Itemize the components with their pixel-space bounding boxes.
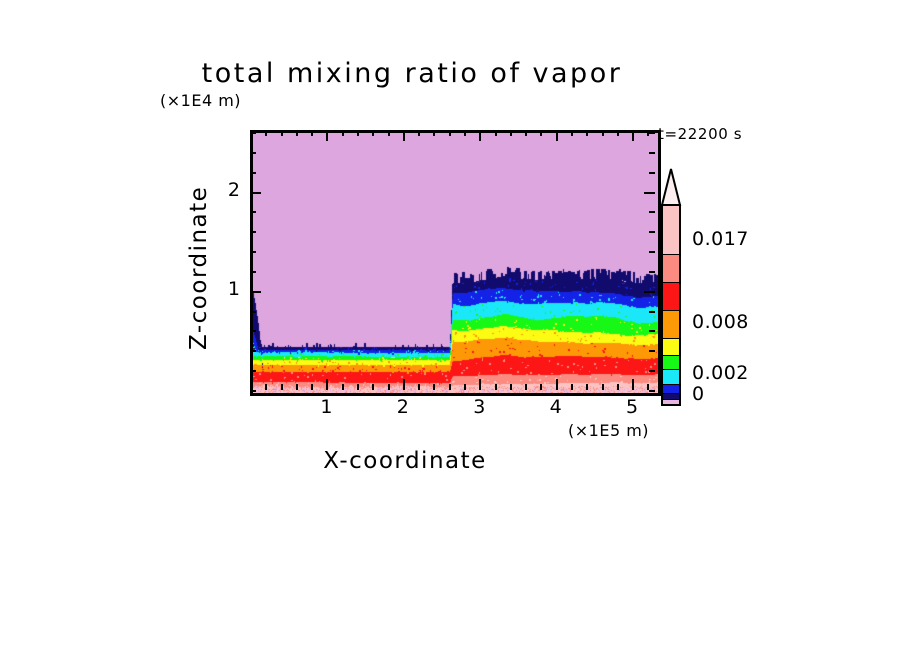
x-minor-tick-top xyxy=(433,130,435,136)
x-minor-tick-top xyxy=(602,130,604,136)
x-minor-tick xyxy=(495,384,497,390)
y-major-tick-right xyxy=(644,192,655,194)
x-major-tick-top xyxy=(403,130,405,141)
y-minor-tick xyxy=(250,152,256,154)
y-minor-tick-right xyxy=(649,251,655,253)
x-minor-tick-top xyxy=(418,130,420,136)
x-major-tick-top xyxy=(632,130,634,141)
x-minor-tick-top xyxy=(357,130,359,136)
colorbar-band-blue xyxy=(663,385,679,394)
colorbar-tick-label: 0.002 xyxy=(692,362,749,384)
x-major-tick xyxy=(632,379,634,390)
y-axis-title: Z-coordinate xyxy=(186,186,212,350)
colorbar-bands xyxy=(661,204,681,406)
x-minor-tick xyxy=(265,384,267,390)
x-minor-tick xyxy=(617,384,619,390)
colorbar-arrow-icon xyxy=(659,168,683,206)
x-minor-tick xyxy=(540,384,542,390)
x-minor-tick-top xyxy=(525,130,527,136)
x-minor-tick xyxy=(372,384,374,390)
y-minor-tick-right xyxy=(649,390,655,392)
x-minor-tick xyxy=(418,384,420,390)
x-minor-tick-top xyxy=(617,130,619,136)
y-minor-tick xyxy=(250,172,256,174)
x-minor-tick xyxy=(388,384,390,390)
x-minor-tick-top xyxy=(372,130,374,136)
x-minor-tick xyxy=(571,384,573,390)
plot-area xyxy=(250,130,661,396)
x-tick-label: 1 xyxy=(311,396,341,418)
x-minor-tick xyxy=(296,384,298,390)
x-minor-tick xyxy=(433,384,435,390)
x-minor-tick xyxy=(586,384,588,390)
x-axis-unit-label: (×1E5 m) xyxy=(568,421,649,440)
y-minor-tick xyxy=(250,231,256,233)
colorbar-band-green xyxy=(663,356,679,371)
colorbar-band-salmon xyxy=(663,255,679,283)
x-minor-tick-top xyxy=(449,130,451,136)
y-minor-tick xyxy=(250,370,256,372)
x-minor-tick xyxy=(602,384,604,390)
y-minor-tick xyxy=(250,350,256,352)
time-annotation: t=22200 s xyxy=(658,125,742,143)
colorbar-tick-label: 0.017 xyxy=(692,228,749,250)
x-minor-tick xyxy=(464,384,466,390)
x-major-tick xyxy=(403,379,405,390)
x-major-tick xyxy=(556,379,558,390)
x-minor-tick xyxy=(357,384,359,390)
x-minor-tick xyxy=(449,384,451,390)
x-minor-tick xyxy=(311,384,313,390)
y-minor-tick-right xyxy=(649,370,655,372)
y-minor-tick xyxy=(250,390,256,392)
y-minor-tick xyxy=(250,271,256,273)
y-tick-label: 1 xyxy=(218,278,240,300)
x-minor-tick xyxy=(281,384,283,390)
x-tick-label: 4 xyxy=(541,396,571,418)
x-minor-tick-top xyxy=(388,130,390,136)
x-major-tick xyxy=(326,379,328,390)
y-minor-tick-right xyxy=(649,172,655,174)
x-tick-label: 3 xyxy=(464,396,494,418)
x-tick-label: 2 xyxy=(388,396,418,418)
x-minor-tick-top xyxy=(571,130,573,136)
x-minor-tick-top xyxy=(510,130,512,136)
x-minor-tick-top xyxy=(281,130,283,136)
y-minor-tick xyxy=(250,330,256,332)
x-minor-tick-top xyxy=(540,130,542,136)
x-minor-tick xyxy=(525,384,527,390)
colorbar-band-yellow xyxy=(663,339,679,356)
y-major-tick-right xyxy=(644,291,655,293)
contour-field xyxy=(253,133,658,393)
y-minor-tick-right xyxy=(649,211,655,213)
y-tick-label: 2 xyxy=(218,179,240,201)
y-major-tick xyxy=(250,192,261,194)
y-minor-tick-right xyxy=(649,271,655,273)
y-axis-unit-label: (×1E4 m) xyxy=(160,91,241,110)
x-major-tick xyxy=(479,379,481,390)
x-minor-tick-top xyxy=(296,130,298,136)
x-minor-tick xyxy=(510,384,512,390)
x-minor-tick xyxy=(342,384,344,390)
page-title: total mixing ratio of vapor xyxy=(0,58,864,89)
x-minor-tick-top xyxy=(265,130,267,136)
x-minor-tick-top xyxy=(311,130,313,136)
y-minor-tick-right xyxy=(649,231,655,233)
x-minor-tick-top xyxy=(586,130,588,136)
colorbar-band-pale-violet xyxy=(663,400,679,404)
x-major-tick-top xyxy=(556,130,558,141)
x-minor-tick-top xyxy=(464,130,466,136)
colorbar-band-cyan xyxy=(663,370,679,385)
x-axis-title: X-coordinate xyxy=(0,448,857,474)
y-minor-tick xyxy=(250,251,256,253)
y-major-tick xyxy=(250,291,261,293)
y-minor-tick-right xyxy=(649,132,655,134)
y-minor-tick-right xyxy=(649,152,655,154)
x-minor-tick-top xyxy=(495,130,497,136)
colorbar-band-light-pink xyxy=(663,206,679,255)
colorbar xyxy=(659,168,683,406)
colorbar-tick-label: 0 xyxy=(692,383,705,405)
x-tick-label: 5 xyxy=(617,396,647,418)
colorbar-band-orange xyxy=(663,311,679,339)
y-minor-tick-right xyxy=(649,350,655,352)
y-minor-tick xyxy=(250,211,256,213)
y-minor-tick-right xyxy=(649,330,655,332)
colorbar-tick-label: 0.008 xyxy=(692,311,749,333)
y-minor-tick-right xyxy=(649,311,655,313)
colorbar-band-red xyxy=(663,283,679,311)
x-major-tick-top xyxy=(326,130,328,141)
x-minor-tick-top xyxy=(342,130,344,136)
y-minor-tick xyxy=(250,132,256,134)
x-major-tick-top xyxy=(479,130,481,141)
y-minor-tick xyxy=(250,311,256,313)
